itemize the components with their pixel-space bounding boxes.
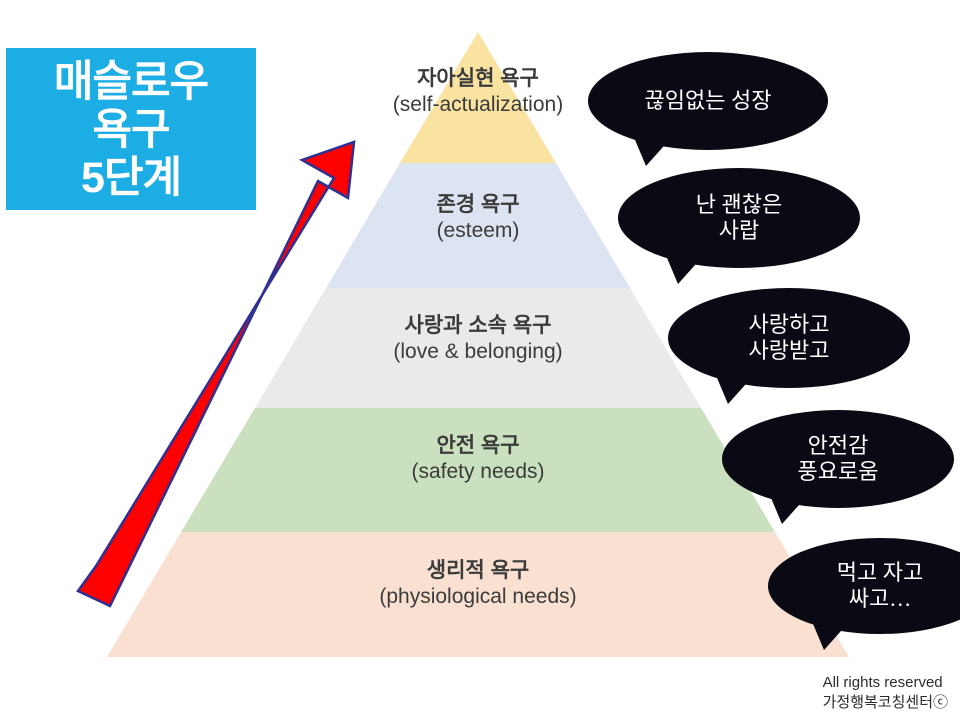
- bubble-text-line-2: 풍요로움: [798, 459, 879, 485]
- title-line-2: 욕구: [92, 106, 169, 154]
- bubble-text: 안전감 풍요로움: [722, 410, 954, 508]
- tier-label-en: (esteem): [318, 218, 638, 244]
- bubble-text-line-2: 사랑받고: [749, 338, 830, 364]
- bubble-physiological[interactable]: 먹고 자고 싸고…: [768, 538, 960, 634]
- bubble-text-line-1: 난 괜찮은: [696, 192, 782, 218]
- tier-label-ko: 생리적 욕구: [288, 558, 668, 584]
- slide-canvas: 매슬로우 욕구 5단계 자아실현 욕구 (self-actualization)…: [0, 0, 960, 720]
- bubble-self-actualization[interactable]: 끊임없는 성장: [588, 52, 828, 150]
- bubble-text: 먹고 자고 싸고…: [768, 538, 960, 634]
- bubble-text-line-1: 사랑하고: [749, 312, 830, 338]
- tier-label-ko: 사랑과 소속 욕구: [298, 313, 658, 339]
- copyright-line-1: All rights reserved: [823, 673, 948, 693]
- tier-label-en: (love & belonging): [298, 339, 658, 365]
- tier-label-safety: 안전 욕구 (safety needs): [318, 433, 638, 484]
- bubble-text-line-1: 먹고 자고: [837, 560, 923, 586]
- tier-label-en: (safety needs): [318, 459, 638, 485]
- title-line-3: 5단계: [81, 154, 181, 202]
- title-box: 매슬로우 욕구 5단계: [6, 48, 256, 210]
- tier-label-ko: 안전 욕구: [318, 433, 638, 459]
- title-line-1: 매슬로우: [54, 58, 208, 106]
- bubble-text-line-2: 사랍: [719, 218, 759, 244]
- tier-label-ko: 존경 욕구: [318, 192, 638, 218]
- bubble-safety[interactable]: 안전감 풍요로움: [722, 410, 954, 508]
- tier-label-esteem: 존경 욕구 (esteem): [318, 192, 638, 243]
- tier-label-love-belonging: 사랑과 소속 욕구 (love & belonging): [298, 313, 658, 364]
- bubble-love-belonging[interactable]: 사랑하고 사랑받고: [668, 288, 910, 388]
- tier-label-physiological: 생리적 욕구 (physiological needs): [288, 558, 668, 609]
- copyright-footer: All rights reserved 가정행복코칭센터ⓒ: [823, 673, 948, 712]
- bubble-text-line-1: 끊임없는 성장: [645, 88, 772, 114]
- bubble-esteem[interactable]: 난 괜찮은 사랍: [618, 168, 860, 268]
- bubble-text-line-1: 안전감: [808, 433, 869, 459]
- tier-label-en: (physiological needs): [288, 584, 668, 610]
- bubble-text: 난 괜찮은 사랍: [618, 168, 860, 268]
- bubble-text: 사랑하고 사랑받고: [668, 288, 910, 388]
- bubble-text-line-2: 싸고…: [849, 586, 911, 612]
- copyright-line-2: 가정행복코칭센터ⓒ: [823, 693, 948, 713]
- bubble-text: 끊임없는 성장: [588, 52, 828, 150]
